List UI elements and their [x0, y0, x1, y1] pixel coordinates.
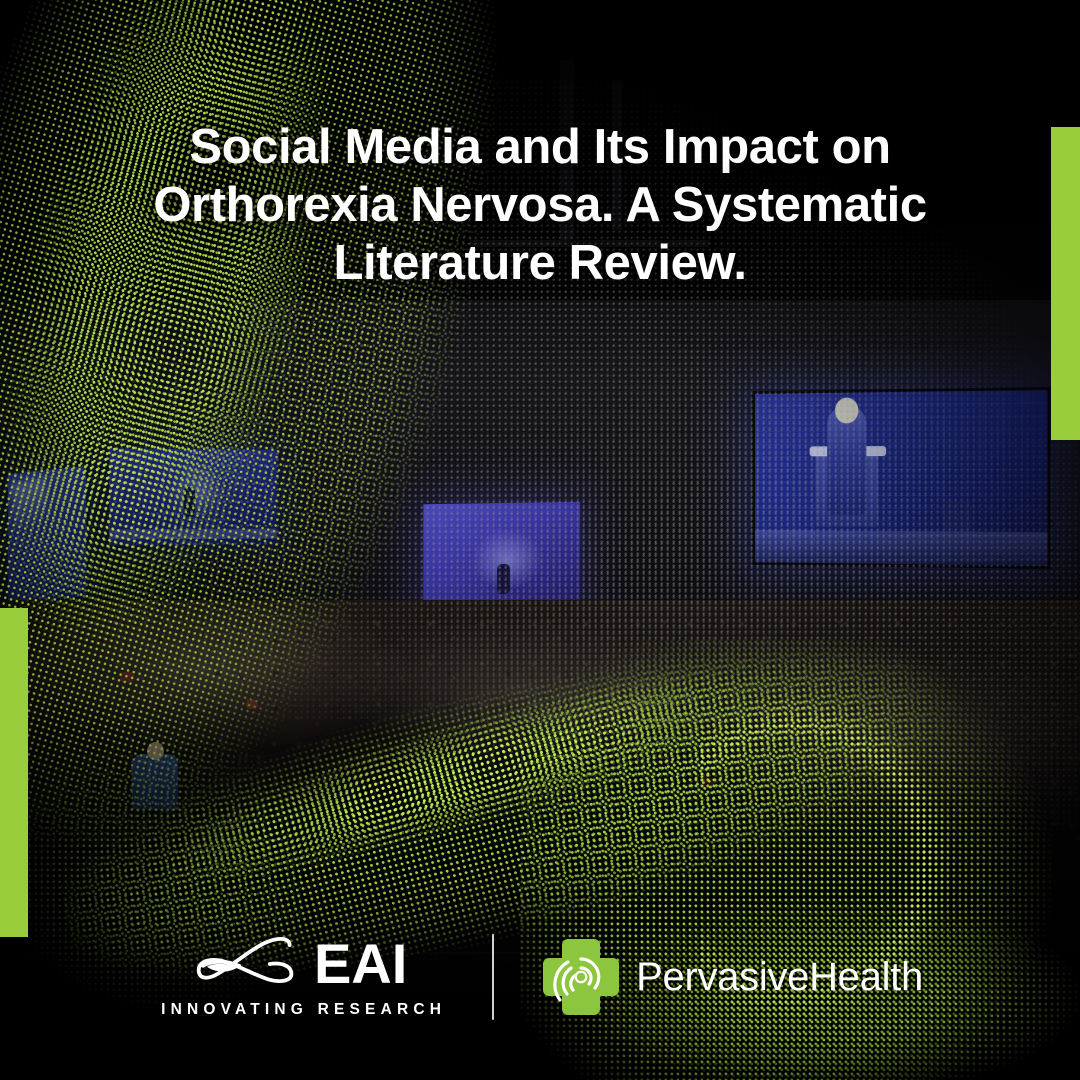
accent-bar-right [1051, 127, 1080, 440]
poster-title: Social Media and Its Impact on Orthorexi… [60, 118, 1020, 292]
footer-logos: EAI INNOVATING RESEARCH PervasiveHealth [0, 922, 1080, 1032]
medical-cross-signal-icon [540, 936, 622, 1018]
eai-wordmark: EAI [314, 938, 407, 990]
pervasive-health-logo[interactable]: PervasiveHealth [540, 936, 923, 1018]
logo-divider [492, 934, 494, 1020]
title-line-2: Orthorexia Nervosa. A Systematic [60, 176, 1020, 234]
poster-canvas: Social Media and Its Impact on Orthorexi… [0, 0, 1080, 1080]
title-line-3: Literature Review. [60, 234, 1020, 292]
eai-tagline: INNOVATING RESEARCH [157, 1001, 446, 1019]
pervasive-health-wordmark: PervasiveHealth [636, 955, 923, 1000]
infinity-ribbon-icon [196, 936, 304, 992]
eai-logo-row: EAI [196, 936, 407, 992]
eai-logo[interactable]: EAI INNOVATING RESEARCH [157, 936, 446, 1019]
title-line-1: Social Media and Its Impact on [60, 118, 1020, 176]
accent-bar-left [0, 608, 28, 937]
